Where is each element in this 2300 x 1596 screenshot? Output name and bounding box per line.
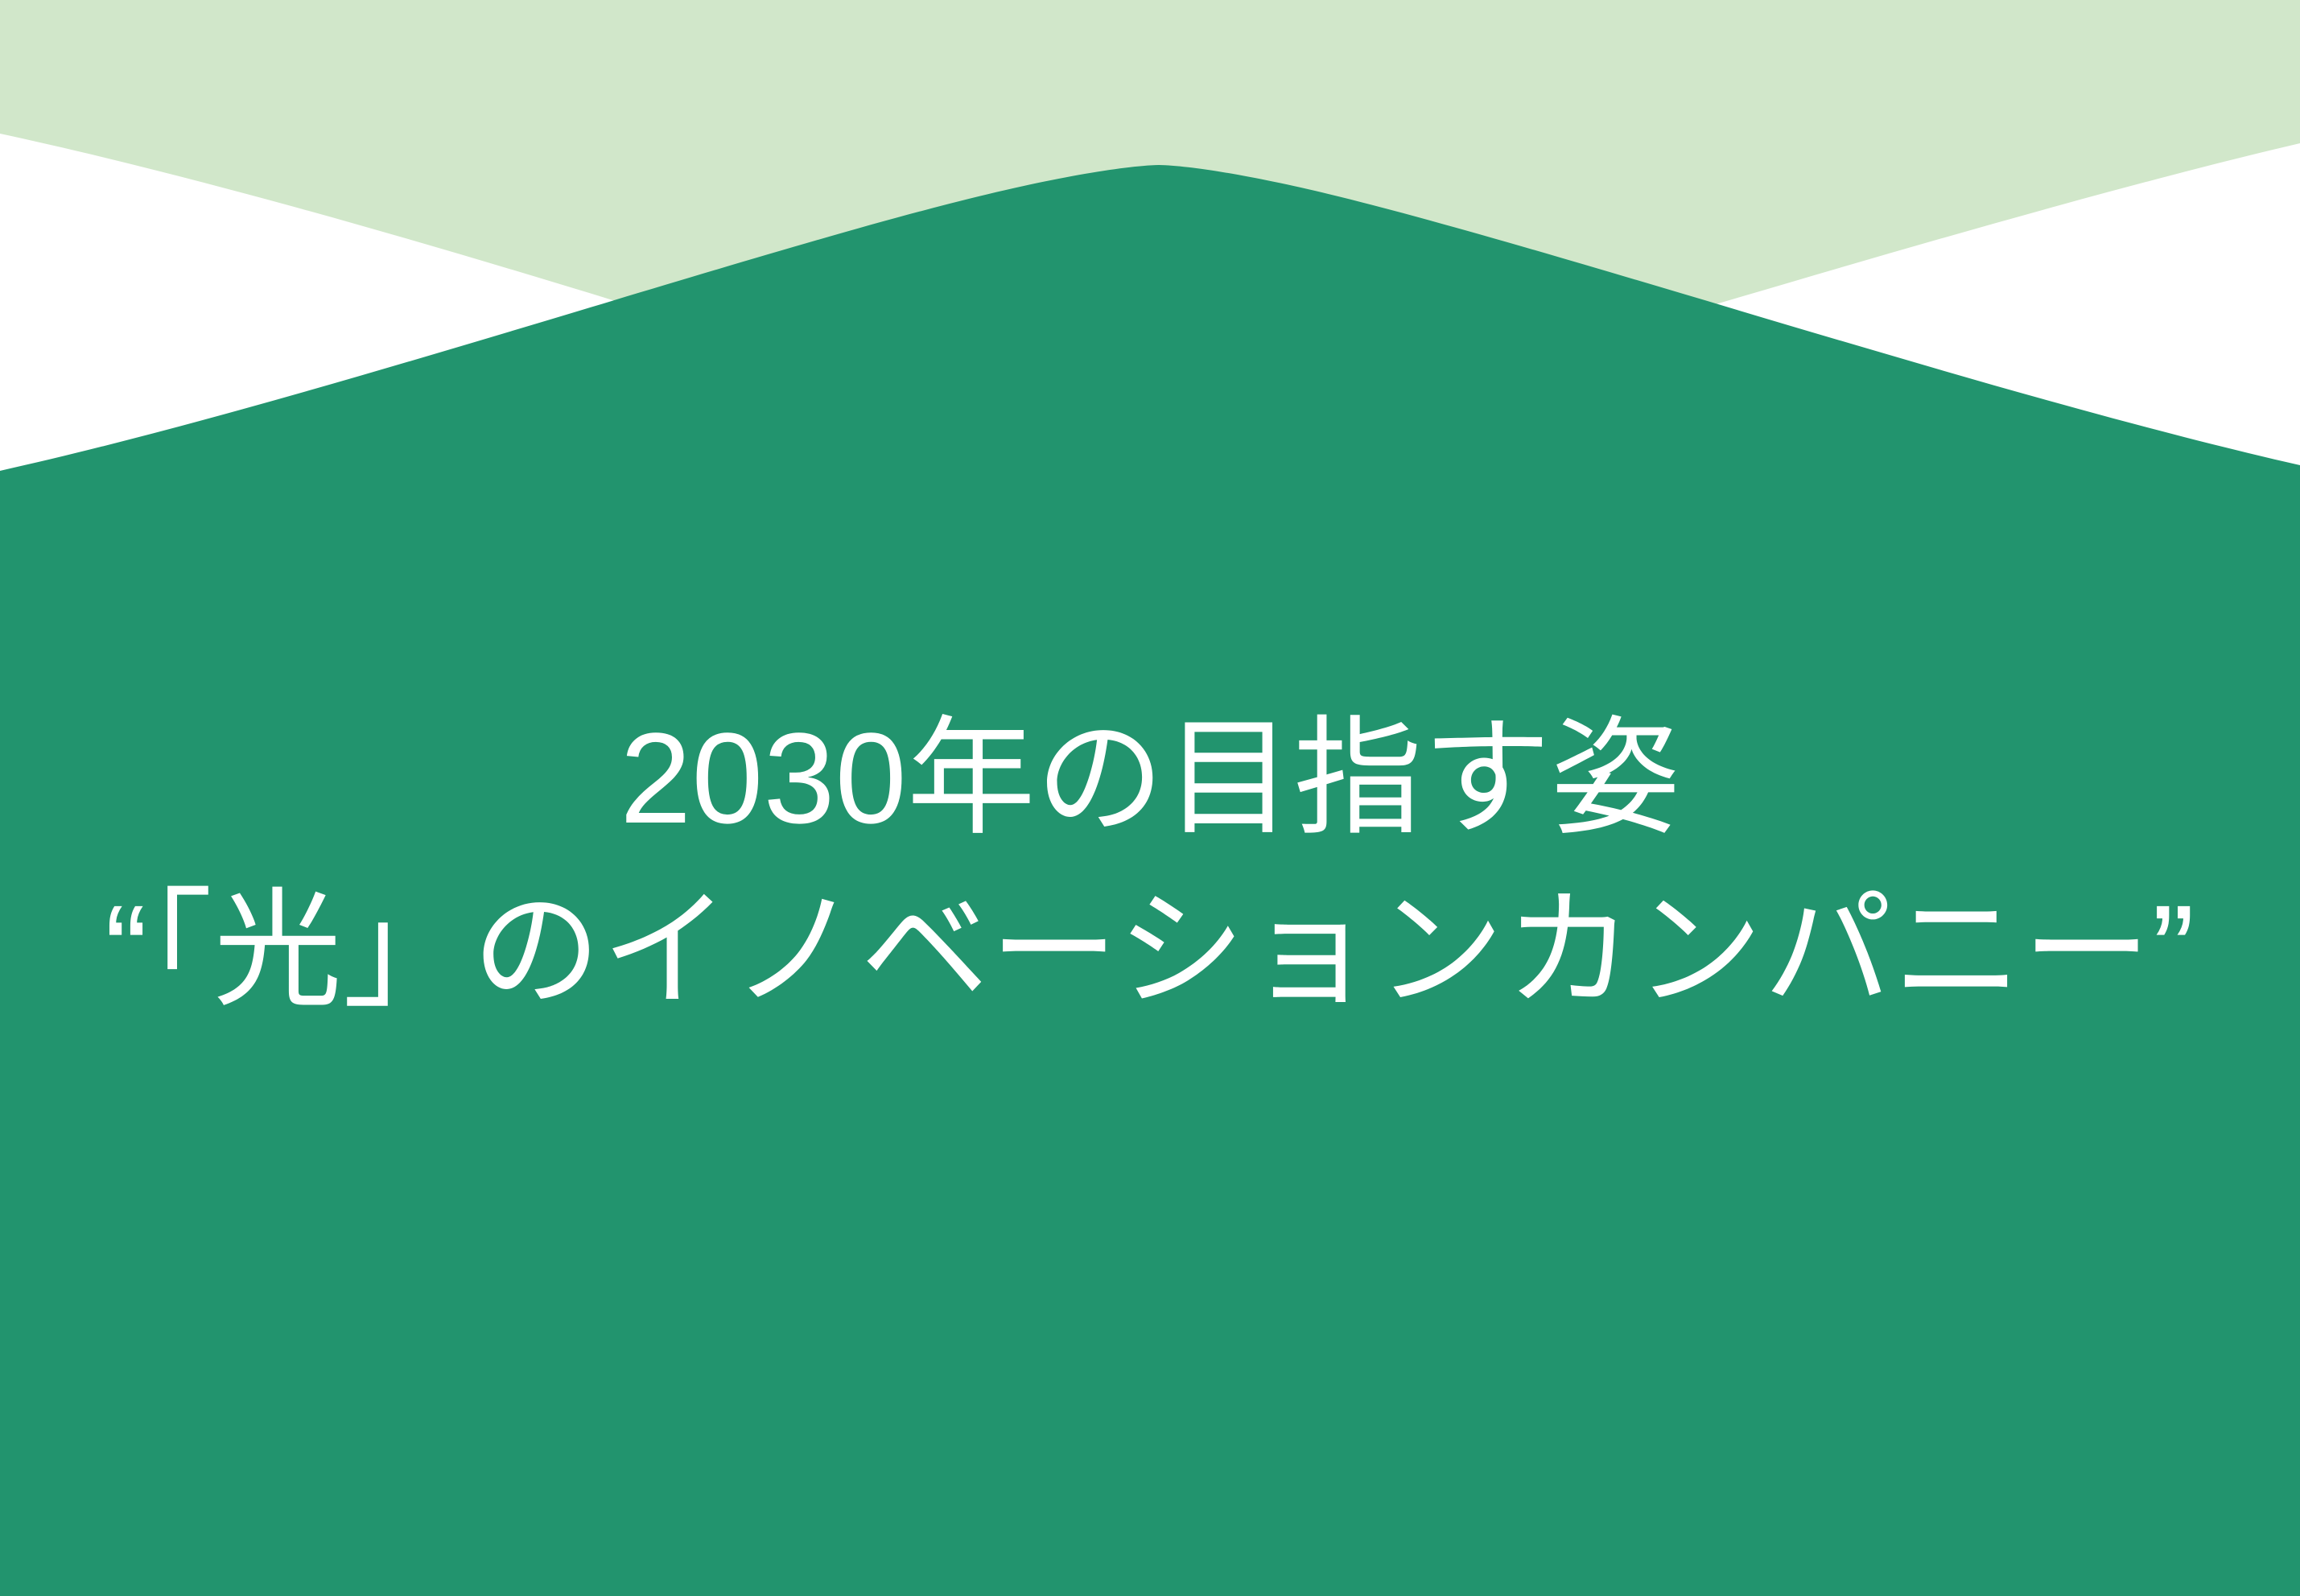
presentation-slide: 2030年の目指す姿 “「光」のイノベーションカンパニー”	[0, 0, 2300, 1596]
page-title-line-2: “「光」のイノベーションカンパニー”	[0, 864, 2300, 1037]
slide-title-block: 2030年の目指す姿 “「光」のイノベーションカンパニー”	[0, 692, 2300, 1037]
page-title-line-1: 2030年の目指す姿	[0, 692, 2300, 864]
